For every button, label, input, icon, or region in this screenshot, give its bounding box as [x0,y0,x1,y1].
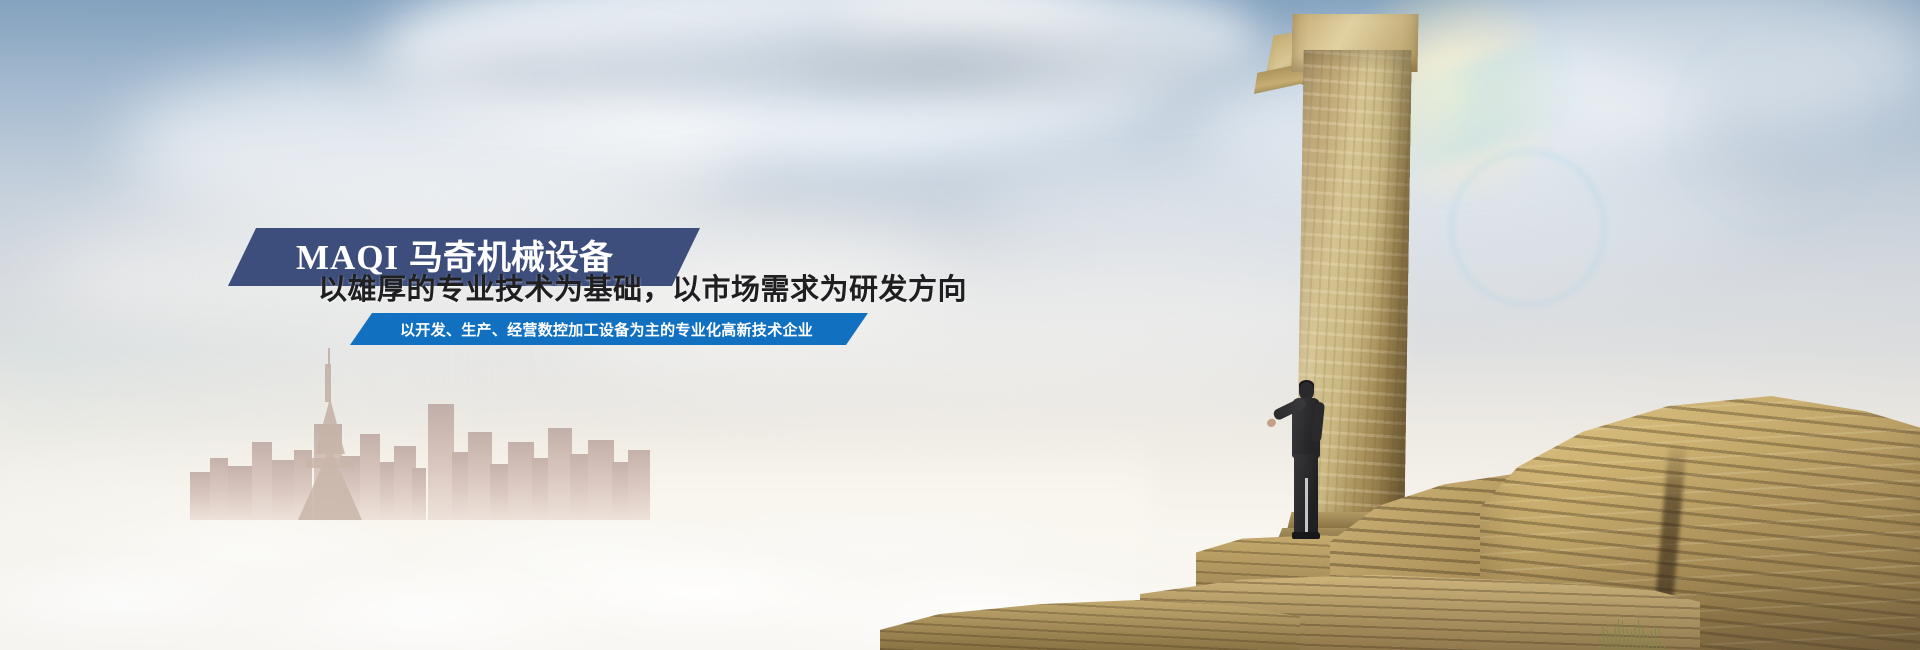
eiffel-tower-icon [298,350,362,520]
lens-ring [1670,20,1884,234]
tagline-band: 以开发、生产、经营数控加工设备为主的专业化高新技术企业 [350,313,868,345]
figure-shoes [1292,532,1320,539]
banner-subtitle: 以雄厚的专业技术为基础，以市场需求为研发方向 [318,266,967,308]
cloud-shadow-band [300,30,780,120]
businessman-figure [1275,382,1333,540]
tagline-text: 以开发、生产、经营数控加工设备为主的专业化高新技术企业 [400,319,813,340]
hero-banner: MAQI 马奇机械设备 以雄厚的专业技术为基础，以市场需求为研发方向 以开发、生… [0,0,1920,650]
lens-ring [1450,150,1606,306]
city-skyline [190,340,650,520]
